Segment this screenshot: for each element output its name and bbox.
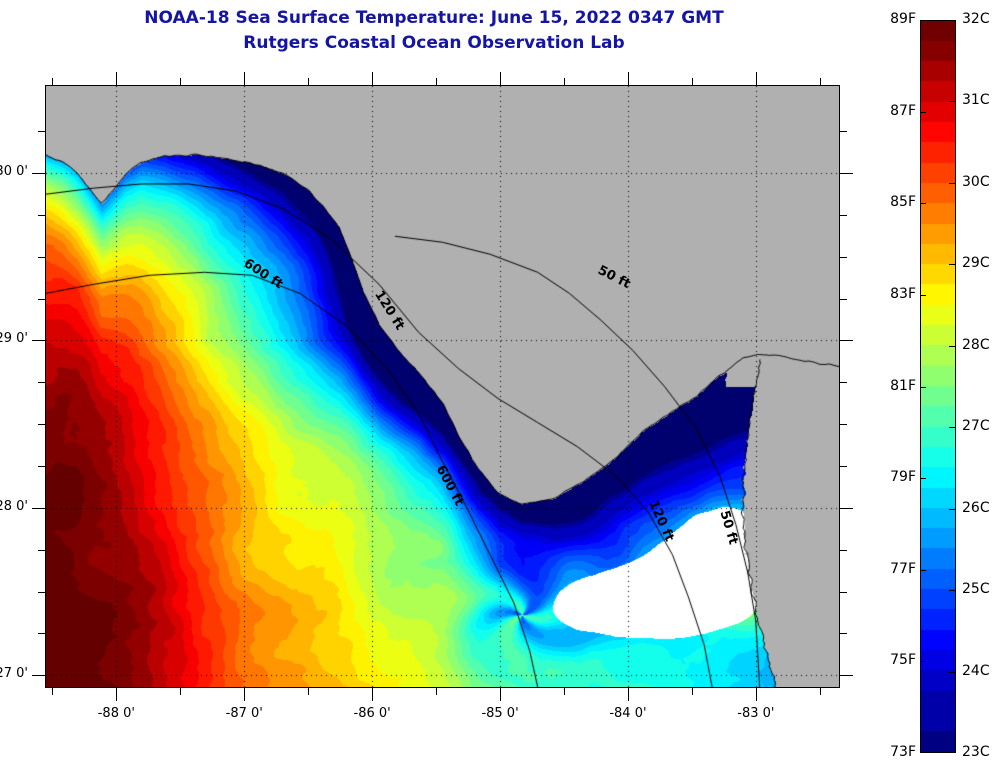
colorbar-tick-fahrenheit <box>920 387 926 388</box>
axis-tick <box>38 550 45 551</box>
colorbar-label-celsius: 23C <box>962 744 990 760</box>
colorbar-tick-fahrenheit <box>920 295 926 296</box>
colorbar-label-celsius: 24C <box>962 663 990 679</box>
x-axis-tick-label: -87 0' <box>226 706 263 721</box>
axis-tick <box>38 299 45 300</box>
axis-tick <box>820 688 821 695</box>
axis-tick <box>38 466 45 467</box>
axis-tick <box>116 72 117 85</box>
axis-tick <box>244 688 245 701</box>
chart-title: NOAA-18 Sea Surface Temperature: June 15… <box>0 6 868 56</box>
colorbar-label-celsius: 30C <box>962 174 990 190</box>
x-axis-tick-label: -85 0' <box>481 706 518 721</box>
axis-tick <box>820 78 821 85</box>
axis-tick <box>840 340 853 341</box>
colorbar-label-fahrenheit: 83F <box>878 286 916 302</box>
axis-tick <box>840 675 853 676</box>
x-axis-tick-label: -84 0' <box>609 706 646 721</box>
axis-tick <box>38 382 45 383</box>
sst-map-plot[interactable]: 600 ft120 ft50 ft600 ft120 ft50 ft <box>45 85 840 688</box>
axis-tick <box>32 173 45 174</box>
colorbar-label-celsius: 25C <box>962 581 990 597</box>
colorbar-label-celsius: 27C <box>962 418 990 434</box>
axis-tick <box>38 424 45 425</box>
y-axis-tick-label: 28 0' <box>0 499 28 514</box>
colorbar-label-fahrenheit: 81F <box>878 378 916 394</box>
colorbar-tick-celsius <box>949 264 955 265</box>
colorbar-label-fahrenheit: 87F <box>878 103 916 119</box>
axis-tick <box>692 688 693 695</box>
colorbar-tick-fahrenheit <box>920 478 926 479</box>
axis-tick <box>840 424 847 425</box>
colorbar-label-fahrenheit: 77F <box>878 561 916 577</box>
axis-tick <box>52 688 53 695</box>
axis-tick <box>840 299 847 300</box>
axis-tick <box>52 78 53 85</box>
colorbar-label-fahrenheit: 75F <box>878 652 916 668</box>
sst-raster-image <box>46 86 839 687</box>
axis-tick <box>840 382 847 383</box>
colorbar-label-fahrenheit: 85F <box>878 194 916 210</box>
axis-tick <box>840 550 847 551</box>
axis-tick <box>38 215 45 216</box>
axis-tick <box>32 675 45 676</box>
axis-tick <box>500 688 501 701</box>
colorbar-tick-celsius <box>949 101 955 102</box>
axis-tick <box>628 688 629 701</box>
colorbar-label-celsius: 28C <box>962 337 990 353</box>
axis-tick <box>38 633 45 634</box>
title-line-1: NOAA-18 Sea Surface Temperature: June 15… <box>0 6 868 31</box>
axis-tick <box>436 78 437 85</box>
axis-tick <box>116 688 117 701</box>
axis-tick <box>38 131 45 132</box>
axis-tick <box>840 508 853 509</box>
colorbar-label-celsius: 32C <box>962 11 990 27</box>
axis-tick <box>756 72 757 85</box>
colorbar-gradient <box>921 21 955 752</box>
colorbar-label-celsius: 26C <box>962 500 990 516</box>
axis-tick <box>564 688 565 695</box>
colorbar-label-fahrenheit: 89F <box>878 11 916 27</box>
axis-tick <box>38 257 45 258</box>
colorbar-tick-celsius <box>949 590 955 591</box>
axis-tick <box>308 688 309 695</box>
colorbar-label-fahrenheit: 73F <box>878 744 916 760</box>
axis-tick <box>436 688 437 695</box>
colorbar-tick-fahrenheit <box>920 112 926 113</box>
axis-tick <box>180 78 181 85</box>
axis-tick <box>244 72 245 85</box>
colorbar-tick-celsius <box>949 509 955 510</box>
y-axis-tick-label: 30 0' <box>0 164 28 179</box>
axis-tick <box>840 215 847 216</box>
axis-tick <box>840 131 847 132</box>
axis-tick <box>32 508 45 509</box>
axis-tick <box>372 688 373 701</box>
title-line-2: Rutgers Coastal Ocean Observation Lab <box>0 31 868 56</box>
colorbar-tick-celsius <box>949 427 955 428</box>
colorbar-tick-fahrenheit <box>920 203 926 204</box>
axis-tick <box>564 78 565 85</box>
axis-tick <box>500 72 501 85</box>
y-axis-tick-label: 27 0' <box>0 666 28 681</box>
x-axis-tick-label: -86 0' <box>354 706 391 721</box>
axis-tick <box>840 466 847 467</box>
axis-tick <box>840 592 847 593</box>
colorbar-tick-celsius <box>949 672 955 673</box>
axis-tick <box>628 72 629 85</box>
axis-tick <box>372 72 373 85</box>
colorbar-label-celsius: 29C <box>962 255 990 271</box>
axis-tick <box>308 78 309 85</box>
y-axis-tick-label: 29 0' <box>0 331 28 346</box>
x-axis-tick-label: -83 0' <box>737 706 774 721</box>
axis-tick <box>840 257 847 258</box>
colorbar-label-fahrenheit: 79F <box>878 469 916 485</box>
x-axis-tick-label: -88 0' <box>98 706 135 721</box>
axis-tick <box>756 688 757 701</box>
colorbar-tick-fahrenheit <box>920 661 926 662</box>
colorbar-tick-fahrenheit <box>920 570 926 571</box>
colorbar-tick-celsius <box>949 183 955 184</box>
axis-tick <box>180 688 181 695</box>
colorbar-label-celsius: 31C <box>962 92 990 108</box>
axis-tick <box>840 173 853 174</box>
axis-tick <box>840 633 847 634</box>
axis-tick <box>38 592 45 593</box>
axis-tick <box>692 78 693 85</box>
colorbar-tick-celsius <box>949 346 955 347</box>
axis-tick <box>32 340 45 341</box>
